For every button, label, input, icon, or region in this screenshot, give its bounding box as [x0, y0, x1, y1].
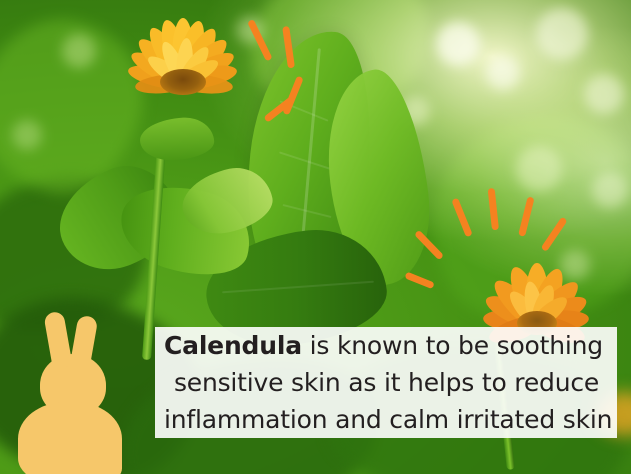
- bokeh-highlight: [436, 22, 480, 66]
- flower-center: [160, 69, 206, 95]
- caption-line-1: Calendula is known to be soothing: [155, 327, 617, 364]
- bokeh-highlight: [584, 74, 624, 114]
- bokeh-highlight: [62, 34, 96, 68]
- bokeh-highlight: [516, 146, 562, 192]
- caption-line-2: sensitive skin as it helps to reduce: [155, 364, 617, 401]
- product-claim-image: Calendula is known to be soothing sensit…: [0, 0, 631, 474]
- bunny-paw: [68, 434, 122, 474]
- bokeh-highlight: [12, 120, 42, 150]
- caption-keyword: Calendula: [164, 331, 302, 360]
- bunny-silhouette-icon: [14, 318, 134, 468]
- caption-block: Calendula is known to be soothing sensit…: [155, 327, 617, 438]
- caption-line-3: inflammation and calm irritated skin: [155, 401, 617, 438]
- bokeh-highlight: [592, 172, 628, 208]
- bokeh-highlight: [536, 8, 588, 60]
- bokeh-highlight: [486, 56, 520, 90]
- caption-line-1-text: is known to be soothing: [302, 331, 603, 360]
- bunny-ear: [43, 311, 72, 370]
